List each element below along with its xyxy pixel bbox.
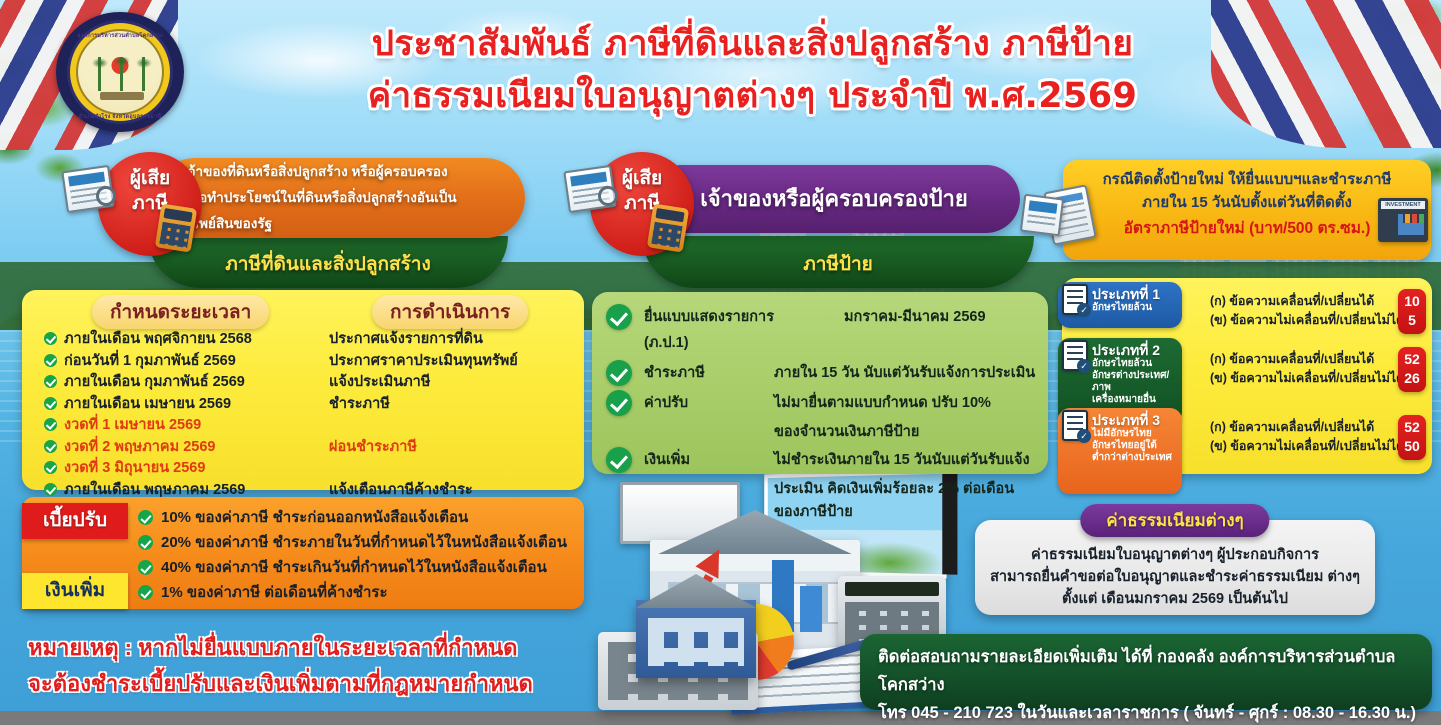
fees-line-1: ค่าธรรมเนียมใบอนุญาตต่างๆ ผู้ประกอบกิจกา…: [975, 544, 1375, 566]
fees-line-3: ตั้งแต่ เดือนมกราคม 2569 เป็นต้นไป: [975, 588, 1375, 610]
sign-type-item: (ข) ข้อความไม่เคลื่อนที่/เปลี่ยนไม่ได้: [1210, 437, 1404, 456]
penalty-row: 1% ของค่าภาษี ต่อเดือนที่ค้างชำระ: [138, 580, 388, 604]
sign-type-item: (ข) ข้อความไม่เคลื่อนที่/เปลี่ยนไม่ได้: [1210, 369, 1404, 388]
penalty-surcharge-tag: เงินเพิ่ม: [22, 573, 128, 609]
check-icon: [44, 332, 57, 345]
timeline-action: ผ่อนชำระภาษี: [329, 435, 417, 458]
clipboard-check-icon: [1062, 284, 1088, 315]
growth-arrow-head: [695, 543, 730, 578]
check-icon: [44, 397, 57, 410]
timeline-header-action-chip: การดำเนินการ: [372, 295, 528, 329]
penalty-text: 10% ของค่าภาษี ชำระก่อนออกหนังสือแจ้งเตื…: [161, 505, 468, 529]
sign-taxpayer-description-pill: เจ้าของหรือผู้ครอบครองป้าย: [648, 165, 1020, 233]
magnifier-icon: [96, 186, 116, 206]
investment-monitor-icon: [1378, 198, 1428, 242]
emblem-base: [100, 92, 144, 100]
bar-chart-bar-2: [800, 586, 822, 632]
emblem-bottom-text: อำเภอสำโรง จังหวัดอุบลราชธานี: [56, 113, 184, 121]
timeline-rows: ภายในเดือน พฤศจิกายน 2568ประกาศแจ้งรายกา…: [44, 328, 574, 522]
sign-process-label: ค่าปรับ: [644, 390, 774, 416]
timeline-row: งวดที่ 1 เมษายน 2569: [44, 414, 574, 436]
sign-tax-tab: ภาษีป้าย: [642, 236, 1034, 288]
title-line-1: ประชาสัมพันธ์ ภาษีที่ดินและสิ่งปลูกสร้าง…: [235, 18, 1270, 70]
timeline-row: ก่อนวันที่ 1 กุมภาพันธ์ 2569ประกาศราคาปร…: [44, 350, 574, 372]
check-icon: [606, 360, 632, 386]
penalty-row: 20% ของค่าภาษี ชำระภายในวันที่กำหนดไว้ใน…: [138, 530, 567, 554]
growth-arrow-stem: [672, 574, 714, 642]
sign-type-items: (ก) ข้อความเคลื่อนที่/เปลี่ยนได้(ข) ข้อค…: [1210, 292, 1404, 330]
check-icon: [138, 585, 153, 600]
notice-line-2: ภายใน 15 วันนับตั้งแต่วันที่ติดตั้ง: [1063, 191, 1431, 214]
sign-type-title: ประเภทที่ 3: [1092, 412, 1172, 428]
sign-type-subtitle: อักษรไทยล้วน: [1092, 358, 1172, 370]
sign-types-list: ประเภทที่ 1อักษรไทยล้วน(ก) ข้อความเคลื่อ…: [1062, 278, 1432, 474]
note-line-1: หมายเหตุ : หากไม่ยื่นแบบภายในระยะเวลาที่…: [28, 630, 588, 666]
sign-type-rate: 5: [1398, 311, 1426, 330]
sign-type-rate-badge: 5250: [1398, 415, 1426, 460]
sign-type-items: (ก) ข้อความเคลื่อนที่/เปลี่ยนได้(ข) ข้อค…: [1210, 350, 1404, 388]
check-icon: [44, 440, 57, 453]
sign-type-rate: 50: [1398, 437, 1426, 456]
calculator-icon: [647, 203, 689, 252]
calculator-icon: [155, 203, 197, 252]
sign-process-subnote: ประเมิน คิดเงินเพิ่มร้อยละ 2% ต่อเดือนขอ…: [774, 477, 1038, 523]
sign-type-rate-badge: 105: [1398, 289, 1426, 334]
timeline-when: งวดที่ 2 พฤษภาคม 2569: [64, 435, 329, 458]
sign-taxpayer-desc: เจ้าของหรือผู้ครอบครองป้าย: [648, 186, 1020, 212]
sign-type-item: (ข) ข้อความไม่เคลื่อนที่/เปลี่ยนไม่ได้: [1210, 311, 1404, 330]
check-icon: [44, 418, 57, 431]
sign-tax-tab-label: ภาษีป้าย: [803, 249, 873, 288]
note-line-2: จะต้องชำระเบี้ยปรับและเงินเพิ่มตามที่กฎห…: [28, 666, 588, 702]
sign-type-subtitle: ไม่มีอักษรไทย: [1092, 428, 1172, 440]
emblem-inner: [76, 29, 164, 115]
penalty-fine-tag: เบี้ยปรับ: [22, 503, 128, 539]
check-icon: [606, 447, 632, 473]
sign-process-value: มกราคม-มีนาคม 2569: [844, 304, 986, 330]
timeline-header-when: กำหนดระยะเวลา: [92, 295, 269, 329]
footer-note: หมายเหตุ : หากไม่ยื่นแบบภายในระยะเวลาที่…: [28, 630, 588, 702]
timeline-row: ภายในเดือน พฤศจิกายน 2568ประกาศแจ้งรายกา…: [44, 328, 574, 350]
sign-process-value: ไม่มายื่นตามแบบกำหนด ปรับ 10%: [774, 390, 991, 416]
blue-house-model-art: [636, 600, 756, 678]
check-icon: [606, 304, 632, 330]
timeline-header-when-chip: กำหนดระยะเวลา: [92, 295, 269, 329]
land-desc-line-3: ทรัพย์สินของรัฐ: [183, 211, 457, 237]
timeline-row: งวดที่ 3 มิถุนายน 2569: [44, 457, 574, 479]
sign-type-rate: 52: [1398, 350, 1426, 369]
notice-line-3: อัตราภาษีป้ายใหม่ (บาท/500 ตร.ซม.): [1063, 216, 1431, 242]
sign-process-row: ยื่นแบบแสดงรายการ (ภ.ป.1)มกราคม-มีนาคม 2…: [606, 304, 1038, 356]
sign-type-item: (ก) ข้อความเคลื่อนที่/เปลี่ยนได้: [1210, 350, 1404, 369]
check-icon: [44, 354, 57, 367]
fees-chip: ค่าธรรมเนียมต่างๆ: [1080, 504, 1269, 537]
sign-process-row: เงินเพิ่มไม่ชำระเงินภายใน 15 วันนับแต่วั…: [606, 447, 1038, 473]
sign-type-tag: ประเภทที่ 1อักษรไทยล้วน: [1058, 282, 1182, 328]
sign-process-rows: ยื่นแบบแสดงรายการ (ภ.ป.1)มกราคม-มีนาคม 2…: [606, 304, 1038, 527]
new-sign-notice: กรณีติดตั้งป้ายใหม่ ให้ยื่นแบบฯและชำระภา…: [1063, 160, 1431, 260]
emblem-top-text: องค์การบริหารส่วนตำบลโคกสว่าง: [56, 32, 184, 40]
land-taxpayer-description-pill: เจ้าของที่ดินหรือสิ่งปลูกสร้าง หรือผู้คร…: [155, 158, 525, 238]
timeline-header-action: การดำเนินการ: [372, 295, 528, 329]
timeline-action: ชำระภาษี: [329, 392, 390, 415]
timeline-when: ภายในเดือน พฤศจิกายน 2568: [64, 327, 329, 350]
house-art: [650, 540, 860, 650]
sign-process-value: ภายใน 15 วัน นับแต่วันรับแจ้งการประเมิน: [774, 360, 1035, 386]
land-desc-line-1: เจ้าของที่ดินหรือสิ่งปลูกสร้าง หรือผู้คร…: [183, 159, 457, 185]
land-badge-line-1: ผู้เสีย: [98, 166, 202, 191]
penalty-text: 1% ของค่าภาษี ต่อเดือนที่ค้างชำระ: [161, 580, 388, 604]
sign-type-rate: 52: [1398, 418, 1426, 437]
timeline-row: งวดที่ 2 พฤษภาคม 2569ผ่อนชำระภาษี: [44, 436, 574, 458]
palm-trees-icon: [86, 57, 158, 91]
check-icon: [44, 375, 57, 388]
check-icon: [138, 535, 153, 550]
sign-type-subtitle: ต่ำกว่าต่างประเทศ: [1092, 452, 1172, 464]
fees-panel: ค่าธรรมเนียมต่างๆ ค่าธรรมเนียมใบอนุญาตต่…: [975, 520, 1375, 615]
sign-type-title: ประเภทที่ 2: [1092, 342, 1172, 358]
sign-process-label: ชำระภาษี: [644, 360, 774, 386]
penalty-panel: เบี้ยปรับ เงินเพิ่ม 10% ของค่าภาษี ชำระก…: [22, 497, 584, 609]
contact-line-2: โทร 045 - 210 723 ในวันและเวลาราชการ ( จ…: [878, 699, 1418, 725]
notice-line-1: กรณีติดตั้งป้ายใหม่ ให้ยื่นแบบฯและชำระภา…: [1063, 168, 1431, 191]
contact-panel: ติดต่อสอบถามรายละเอียดเพิ่มเติม ได้ที่ ก…: [860, 634, 1432, 710]
timeline-action: แจ้งประเมินภาษี: [329, 370, 430, 393]
penalty-row: 10% ของค่าภาษี ชำระก่อนออกหนังสือแจ้งเตื…: [138, 505, 468, 529]
sign-type-items: (ก) ข้อความเคลื่อนที่/เปลี่ยนได้(ข) ข้อค…: [1210, 418, 1404, 456]
land-taxpayer-desc: เจ้าของที่ดินหรือสิ่งปลูกสร้าง หรือผู้คร…: [183, 159, 457, 237]
timeline-action: ประกาศแจ้งรายการที่ดิน: [329, 327, 483, 350]
sign-process-label: เงินเพิ่ม: [644, 447, 774, 473]
sign-type-subtitle: อักษรไทยล้วน: [1092, 302, 1172, 314]
land-desc-line-2: หรือทำประโยชน์ในที่ดินหรือสิ่งปลูกสร้างอ…: [183, 185, 457, 211]
clipboard-check-icon: [1062, 410, 1088, 441]
penalty-row: 40% ของค่าภาษี ชำระเกินวันที่กำหนดไว้ในห…: [138, 555, 547, 579]
check-icon: [44, 483, 57, 496]
sign-type-rate-badge: 5226: [1398, 347, 1426, 392]
timeline-when: ก่อนวันที่ 1 กุมภาพันธ์ 2569: [64, 349, 329, 372]
pie-chart-art: [718, 604, 794, 680]
penalty-text: 40% ของค่าภาษี ชำระเกินวันที่กำหนดไว้ในห…: [161, 555, 547, 579]
sign-process-row: ชำระภาษีภายใน 15 วัน นับแต่วันรับแจ้งการ…: [606, 360, 1038, 386]
report-document-icon: [1020, 194, 1064, 237]
check-icon: [44, 461, 57, 474]
timeline-row: ภายในเดือน เมษายน 2569ชำระภาษี: [44, 393, 574, 415]
sign-process-panel: ยื่นแบบแสดงรายการ (ภ.ป.1)มกราคม-มีนาคม 2…: [592, 292, 1048, 474]
title-line-2: ค่าธรรมเนียมใบอนุญาตต่างๆ ประจำปี พ.ศ.25…: [235, 70, 1270, 122]
sign-type-subtitle: เครื่องหมายอื่น: [1092, 394, 1172, 406]
check-icon: [606, 390, 632, 416]
land-tax-tab: ภาษีที่ดินและสิ่งปลูกสร้าง: [148, 236, 508, 288]
sign-type-subtitle: อักษรต่างประเทศ/ภาพ: [1092, 370, 1172, 394]
magnifier-icon: [598, 186, 618, 206]
sign-type-subtitle: อักษรไทยอยู่ใต้: [1092, 440, 1172, 452]
sign-process-row: ค่าปรับไม่มายื่นตามแบบกำหนด ปรับ 10%: [606, 390, 1038, 416]
timeline-when: ภายในเดือน เมษายน 2569: [64, 392, 329, 415]
timeline-row: ภายในเดือน กุมภาพันธ์ 2569แจ้งประเมินภาษ…: [44, 371, 574, 393]
pen-art: [786, 638, 871, 670]
penalty-text: 20% ของค่าภาษี ชำระภายในวันที่กำหนดไว้ใน…: [161, 530, 567, 554]
municipality-emblem: องค์การบริหารส่วนตำบลโคกสว่าง อำเภอสำโรง…: [56, 12, 184, 132]
clipboard-check-icon: [1062, 340, 1088, 371]
bar-chart-bar-1: [772, 560, 794, 632]
sign-process-subnote: ของจำนวนเงินภาษีป้าย: [774, 420, 1038, 443]
sign-process-value: ไม่ชำระเงินภายใน 15 วันนับแต่วันรับแจ้ง: [774, 447, 1030, 473]
sign-type-item: (ก) ข้อความเคลื่อนที่/เปลี่ยนได้: [1210, 418, 1404, 437]
infographic-poster: องค์การบริหารส่วนตำบลโคกสว่าง อำเภอสำโรง…: [0, 0, 1441, 725]
timeline-when: งวดที่ 3 มิถุนายน 2569: [64, 456, 329, 479]
timeline-when: ภายในเดือน กุมภาพันธ์ 2569: [64, 370, 329, 393]
sign-type-item: (ก) ข้อความเคลื่อนที่/เปลี่ยนได้: [1210, 292, 1404, 311]
timeline-when: งวดที่ 1 เมษายน 2569: [64, 413, 329, 436]
sign-type-tag: ประเภทที่ 3ไม่มีอักษรไทยอักษรไทยอยู่ใต้ต…: [1058, 408, 1182, 494]
sign-process-label: ยื่นแบบแสดงรายการ (ภ.ป.1): [644, 304, 774, 356]
sign-type-rate: 10: [1398, 292, 1426, 311]
check-icon: [138, 560, 153, 575]
timeline-action: ประกาศราคาประเมินทุนทรัพย์: [329, 349, 518, 372]
fees-line-2: สามารถยื่นคำขอต่อใบอนุญาตและชำระค่าธรรมเ…: [975, 566, 1375, 588]
sign-type-title: ประเภทที่ 1: [1092, 286, 1172, 302]
land-tax-tab-label: ภาษีที่ดินและสิ่งปลูกสร้าง: [225, 249, 431, 288]
contact-line-1: ติดต่อสอบถามรายละเอียดเพิ่มเติม ได้ที่ ก…: [878, 643, 1418, 699]
check-icon: [138, 510, 153, 525]
page-title: ประชาสัมพันธ์ ภาษีที่ดินและสิ่งปลูกสร้าง…: [235, 18, 1270, 122]
timeline-panel: กำหนดระยะเวลา การดำเนินการ ภายในเดือน พฤ…: [22, 290, 584, 490]
sign-type-rate: 26: [1398, 369, 1426, 388]
large-calculator-art: [598, 632, 758, 710]
sign-types-panel: ประเภทที่ 1อักษรไทยล้วน(ก) ข้อความเคลื่อ…: [1062, 278, 1432, 474]
